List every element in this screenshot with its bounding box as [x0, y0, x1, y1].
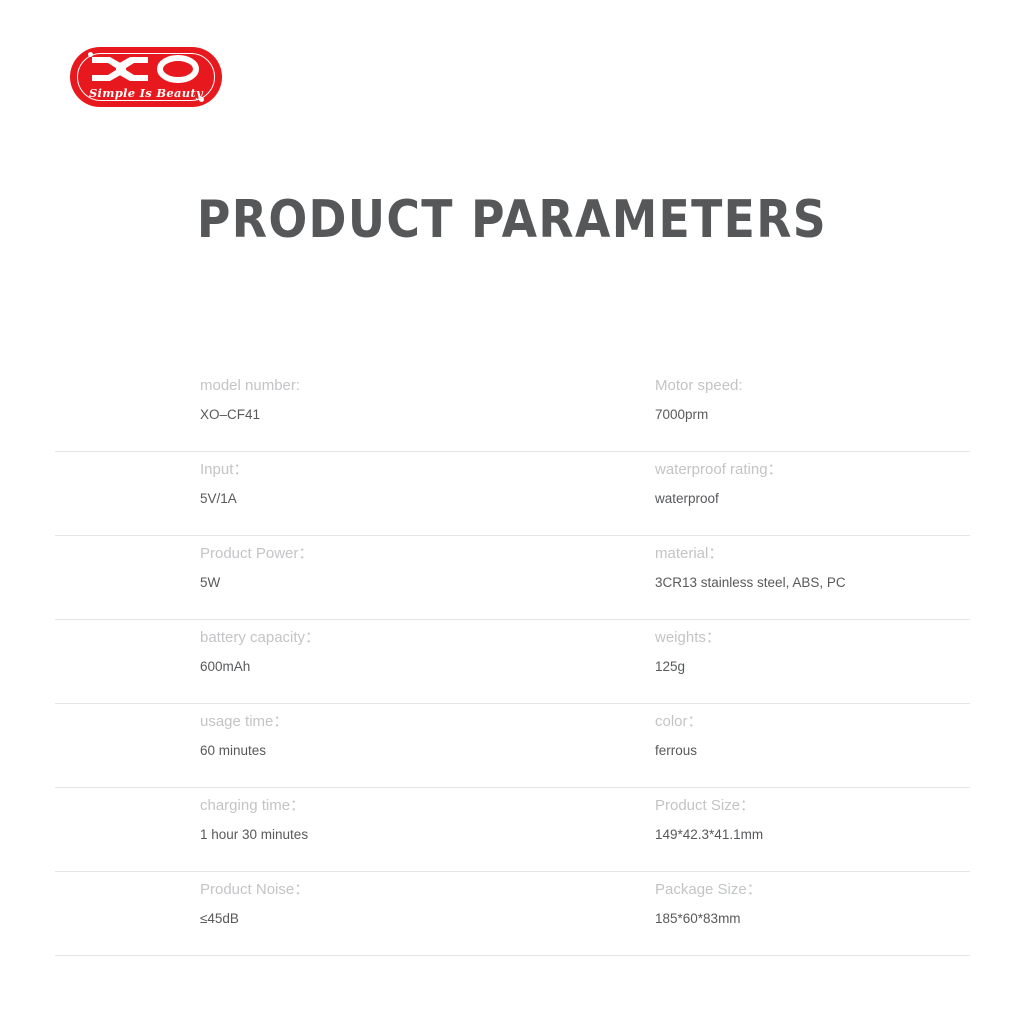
spec-label: Package Size：	[655, 880, 762, 900]
spec-value: 7000prm	[655, 406, 743, 424]
spec-cell-right: material： 3CR13 stainless steel, ABS, PC	[655, 544, 846, 592]
spec-cell-right: weights： 125g	[655, 628, 721, 676]
spec-label: Product Noise：	[200, 880, 309, 900]
table-row: charging time： 1 hour 30 minutes Product…	[55, 788, 970, 872]
table-row: Input： 5V/1A waterproof rating： waterpro…	[55, 452, 970, 536]
spec-cell-left: usage time： 60 minutes	[200, 712, 288, 760]
spec-cell-right: color： ferrous	[655, 712, 703, 760]
spec-cell-left: Product Noise： ≤45dB	[200, 880, 309, 928]
spec-cell-right: Product Size： 149*42.3*41.1mm	[655, 796, 763, 844]
spec-value: 5W	[200, 574, 313, 592]
spec-label: weights：	[655, 628, 721, 648]
spec-value: 3CR13 stainless steel, ABS, PC	[655, 574, 846, 592]
spec-cell-left: Product Power： 5W	[200, 544, 313, 592]
table-row: model number: XO–CF41 Motor speed: 7000p…	[55, 368, 970, 452]
spec-cell-left: model number: XO–CF41	[200, 376, 300, 424]
spec-label: charging time：	[200, 796, 308, 816]
spec-value: ferrous	[655, 742, 703, 760]
spec-value: 5V/1A	[200, 490, 248, 508]
spec-value: 149*42.3*41.1mm	[655, 826, 763, 844]
spec-value: 1 hour 30 minutes	[200, 826, 308, 844]
spec-label: color：	[655, 712, 703, 732]
page-title: PRODUCT PARAMETERS	[61, 190, 962, 250]
spec-value: 185*60*83mm	[655, 910, 762, 928]
spec-label: Product Power：	[200, 544, 313, 564]
spec-label: model number:	[200, 376, 300, 396]
spec-label: battery capacity：	[200, 628, 320, 648]
spec-value: waterproof	[655, 490, 783, 508]
spec-cell-right: waterproof rating： waterproof	[655, 460, 783, 508]
spec-cell-right: Motor speed: 7000prm	[655, 376, 743, 424]
spec-label: waterproof rating：	[655, 460, 783, 480]
table-row: Product Power： 5W material： 3CR13 stainl…	[55, 536, 970, 620]
spec-value: XO–CF41	[200, 406, 300, 424]
brand-tagline: Simple Is Beauty	[70, 87, 222, 100]
spec-label: Input：	[200, 460, 248, 480]
table-row: usage time： 60 minutes color： ferrous	[55, 704, 970, 788]
spec-cell-left: battery capacity： 600mAh	[200, 628, 320, 676]
spec-label: Product Size：	[655, 796, 763, 816]
table-row: battery capacity： 600mAh weights： 125g	[55, 620, 970, 704]
spec-value: ≤45dB	[200, 910, 309, 928]
spec-cell-left: charging time： 1 hour 30 minutes	[200, 796, 308, 844]
spec-label: material：	[655, 544, 846, 564]
spec-value: 600mAh	[200, 658, 320, 676]
spec-cell-left: Input： 5V/1A	[200, 460, 248, 508]
xo-monogram-icon	[70, 54, 222, 84]
spec-value: 125g	[655, 658, 721, 676]
spec-label: Motor speed:	[655, 376, 743, 396]
table-row: Product Noise： ≤45dB Package Size： 185*6…	[55, 872, 970, 956]
brand-logo: Simple Is Beauty	[70, 47, 222, 107]
spec-value: 60 minutes	[200, 742, 288, 760]
product-parameters-table: model number: XO–CF41 Motor speed: 7000p…	[55, 368, 970, 956]
spec-label: usage time：	[200, 712, 288, 732]
spec-cell-right: Package Size： 185*60*83mm	[655, 880, 762, 928]
